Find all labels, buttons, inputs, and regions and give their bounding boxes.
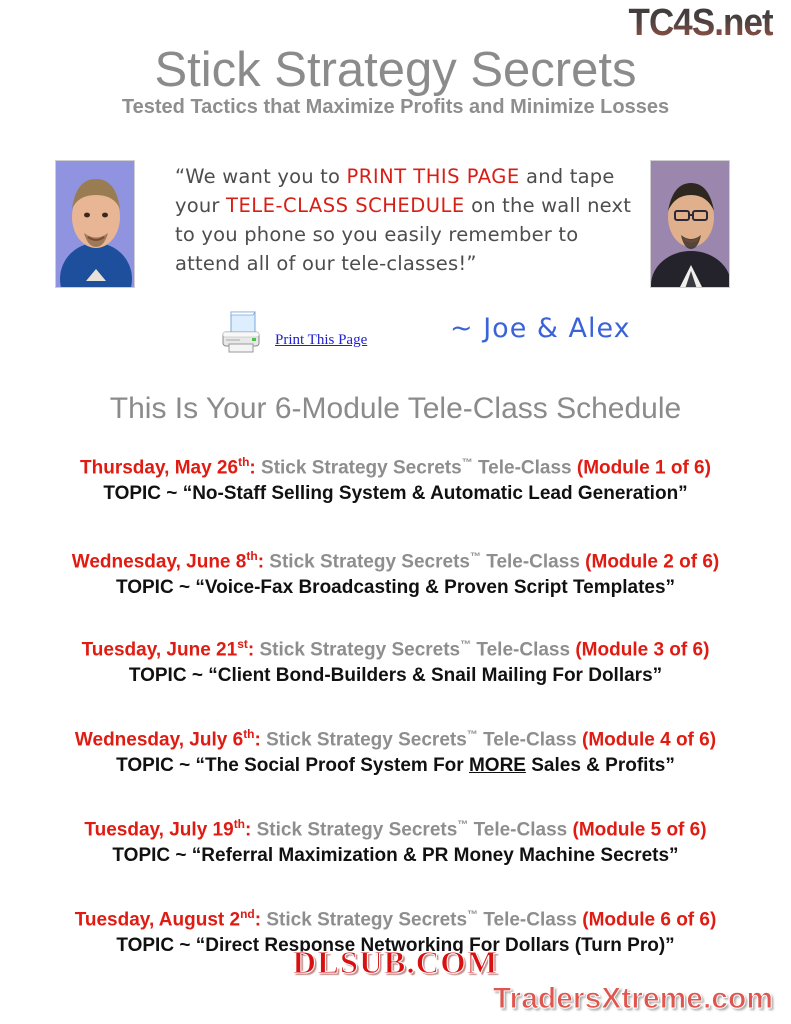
topic-underlined: MORE: [469, 755, 526, 776]
topic-prefix: TOPIC ~: [116, 577, 195, 598]
module-class-suffix: Tele-Class: [478, 729, 582, 750]
module-headline: Wednesday, July 6th: Stick Strategy Secr…: [0, 722, 791, 752]
module-date-ordinal: th: [238, 455, 249, 469]
module-topic: TOPIC ~ “Voice-Fax Broadcasting & Proven…: [0, 575, 791, 601]
topic-text: “Referral Maximization & PR Money Machin…: [192, 845, 679, 866]
module-colon: :: [258, 551, 264, 572]
module-headline: Tuesday, August 2nd: Stick Strategy Secr…: [0, 902, 791, 932]
trademark-symbol: ™: [470, 551, 481, 563]
module-class-suffix: Tele-Class: [478, 909, 582, 930]
module-class-name: Stick Strategy Secrets: [261, 457, 462, 478]
avatar-alex: [650, 160, 730, 288]
topic-prefix: TOPIC ~: [116, 755, 195, 776]
topic-text: “Client Bond-Builders & Snail Mailing Fo…: [208, 665, 662, 686]
module-class-name: Stick Strategy Secrets: [266, 729, 467, 750]
topic-text: “Voice-Fax Broadcasting & Proven Script …: [195, 577, 675, 598]
module-date-ordinal: th: [246, 549, 257, 563]
module-class-suffix: Tele-Class: [471, 639, 575, 660]
module-item: Wednesday, June 8th: Stick Strategy Secr…: [0, 544, 791, 601]
quote-highlight-schedule: TELE-CLASS SCHEDULE: [226, 194, 465, 217]
trademark-symbol: ™: [457, 819, 468, 831]
print-this-page-row[interactable]: Print This Page: [215, 306, 367, 358]
module-item: Tuesday, June 21st: Stick Strategy Secre…: [0, 632, 791, 689]
module-class-suffix: Tele-Class: [481, 551, 585, 572]
schedule-heading: This Is Your 6-Module Tele-Class Schedul…: [0, 392, 791, 426]
module-topic: TOPIC ~ “Referral Maximization & PR Mone…: [0, 843, 791, 869]
trademark-symbol: ™: [462, 457, 473, 469]
module-headline: Wednesday, June 8th: Stick Strategy Secr…: [0, 544, 791, 574]
module-headline: Thursday, May 26th: Stick Strategy Secre…: [0, 450, 791, 480]
module-headline: Tuesday, July 19th: Stick Strategy Secre…: [0, 812, 791, 842]
page-title: Stick Strategy Secrets: [0, 42, 791, 98]
module-topic: TOPIC ~ “The Social Proof System For MOR…: [0, 753, 791, 779]
module-number-label: (Module 6 of 6): [582, 909, 716, 930]
module-date: Tuesday, August 2: [75, 909, 240, 930]
module-item: Tuesday, July 19th: Stick Strategy Secre…: [0, 812, 791, 869]
module-headline: Tuesday, June 21st: Stick Strategy Secre…: [0, 632, 791, 662]
topic-text: “No-Staff Selling System & Automatic Lea…: [183, 483, 688, 504]
trademark-symbol: ™: [467, 729, 478, 741]
module-class-name: Stick Strategy Secrets: [257, 819, 458, 840]
module-date: Tuesday, July 19: [84, 819, 233, 840]
module-class-suffix: Tele-Class: [473, 457, 577, 478]
module-number-label: (Module 4 of 6): [582, 729, 716, 750]
module-date-ordinal: th: [234, 817, 245, 831]
module-topic: TOPIC ~ “Client Bond-Builders & Snail Ma…: [0, 663, 791, 689]
topic-prefix: TOPIC ~: [103, 483, 182, 504]
footer-logo: TradersXtreme.com: [493, 982, 773, 1016]
brand-logo: TC4S.net: [629, 2, 773, 45]
trademark-symbol: ™: [460, 639, 471, 651]
quote-part-1: “We want you to: [175, 165, 347, 188]
module-date-ordinal: th: [243, 727, 254, 741]
module-class-name: Stick Strategy Secrets: [266, 909, 467, 930]
module-date: Wednesday, June 8: [72, 551, 247, 572]
print-this-page-link[interactable]: Print This Page: [275, 332, 367, 349]
topic-prefix: TOPIC ~: [129, 665, 208, 686]
module-class-name: Stick Strategy Secrets: [259, 639, 460, 660]
topic-tail: Sales & Profits”: [526, 755, 675, 776]
module-class-suffix: Tele-Class: [468, 819, 572, 840]
module-date: Thursday, May 26: [80, 457, 238, 478]
quote-text: “We want you to PRINT THIS PAGE and tape…: [175, 162, 635, 278]
module-topic: TOPIC ~ “No-Staff Selling System & Autom…: [0, 481, 791, 507]
module-colon: :: [255, 909, 261, 930]
topic-text: “The Social Proof System For: [196, 755, 469, 776]
alex-headshot-icon: [651, 161, 730, 288]
module-item: Wednesday, July 6th: Stick Strategy Secr…: [0, 722, 791, 779]
module-date: Tuesday, June 21: [82, 639, 238, 660]
quote-highlight-print: PRINT THIS PAGE: [347, 165, 520, 188]
trademark-symbol: ™: [467, 909, 478, 921]
module-item: Thursday, May 26th: Stick Strategy Secre…: [0, 450, 791, 507]
printer-icon[interactable]: [215, 306, 267, 358]
page-subtitle: Tested Tactics that Maximize Profits and…: [0, 96, 791, 119]
module-number-label: (Module 1 of 6): [577, 457, 711, 478]
module-date-ordinal: nd: [240, 907, 255, 921]
module-colon: :: [248, 639, 254, 660]
module-colon: :: [245, 819, 251, 840]
module-date: Wednesday, July 6: [75, 729, 243, 750]
module-class-name: Stick Strategy Secrets: [269, 551, 470, 572]
watermark: DLSUB.COM: [0, 944, 791, 981]
avatar-joe: [55, 160, 135, 288]
signature: ~ Joe & Alex: [450, 313, 631, 344]
module-number-label: (Module 2 of 6): [585, 551, 719, 572]
joe-headshot-icon: [56, 161, 135, 288]
module-colon: :: [249, 457, 255, 478]
module-colon: :: [255, 729, 261, 750]
module-number-label: (Module 5 of 6): [573, 819, 707, 840]
topic-prefix: TOPIC ~: [112, 845, 191, 866]
tele-class-schedule-page: TC4S.net Stick Strategy Secrets Tested T…: [0, 0, 791, 1024]
module-date-ordinal: st: [237, 637, 248, 651]
module-number-label: (Module 3 of 6): [575, 639, 709, 660]
